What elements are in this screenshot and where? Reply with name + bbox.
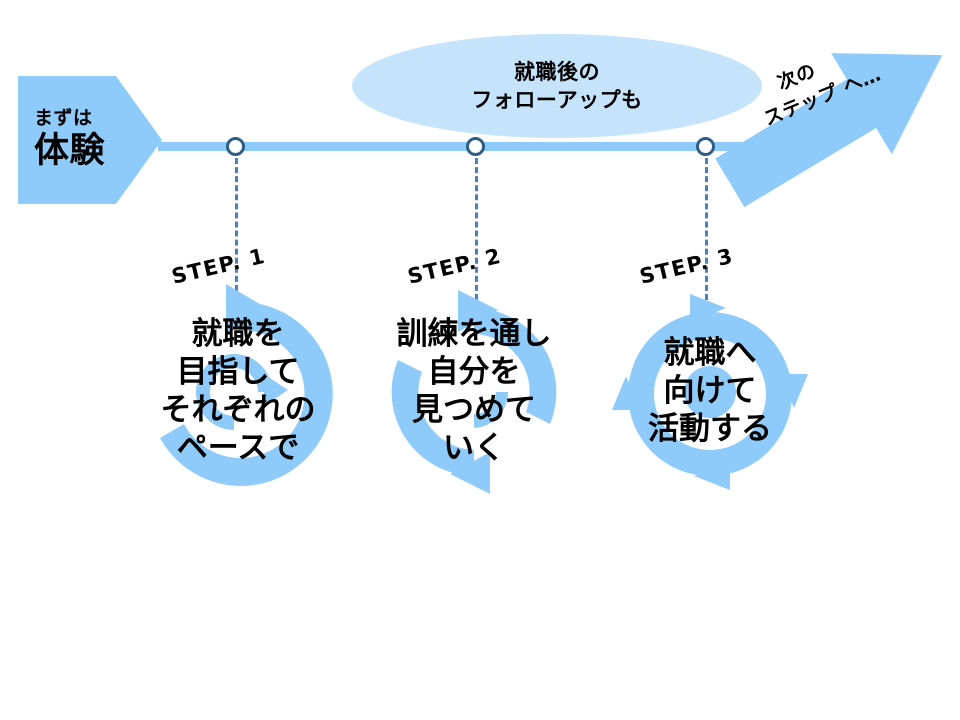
step-text-2: 訓練を通し 自分を 見つめて いく <box>358 278 590 506</box>
step-1-line-3: それぞれの <box>161 392 316 430</box>
entry-big-label: 体験 <box>34 131 105 171</box>
step-1-line-4: ペースで <box>177 430 299 468</box>
followup-line-1: 就職後の <box>514 58 600 86</box>
diagram-canvas: まずは 体験 就職後の フォローアップも 次の ステップ へ… STEP. 1 … <box>0 0 960 720</box>
step-2-line-3: 見つめて <box>412 392 536 430</box>
step-block-2: 訓練を通し 自分を 見つめて いく <box>358 278 590 506</box>
timeline-node-2[interactable] <box>466 137 485 156</box>
step-2-line-4: いく <box>443 430 505 468</box>
step-3-line-3: 活動する <box>648 411 772 449</box>
step-2-line-1: 訓練を通し <box>397 316 552 354</box>
step-1-line-1: 就職を <box>192 316 285 354</box>
step-block-1: 就職を 目指して それぞれの ペースで <box>122 278 354 506</box>
followup-line-2: フォローアップも <box>471 86 642 114</box>
step-3-line-1: 就職へ <box>664 335 757 373</box>
step-block-3: 就職へ 向けて 活動する <box>594 278 826 506</box>
step-1-line-2: 目指して <box>176 354 299 392</box>
step-2-line-2: 自分を <box>428 354 521 392</box>
entry-chevron: まずは 体験 <box>18 76 162 204</box>
timeline-node-1[interactable] <box>226 137 245 156</box>
step-3-line-2: 向けて <box>664 373 757 411</box>
step-text-1: 就職を 目指して それぞれの ペースで <box>122 278 354 506</box>
step-text-3: 就職へ 向けて 活動する <box>594 278 826 506</box>
entry-small-label: まずは <box>34 108 93 129</box>
timeline-bar <box>158 142 770 151</box>
next-step-arrow[interactable]: 次の ステップ へ… <box>700 8 960 223</box>
